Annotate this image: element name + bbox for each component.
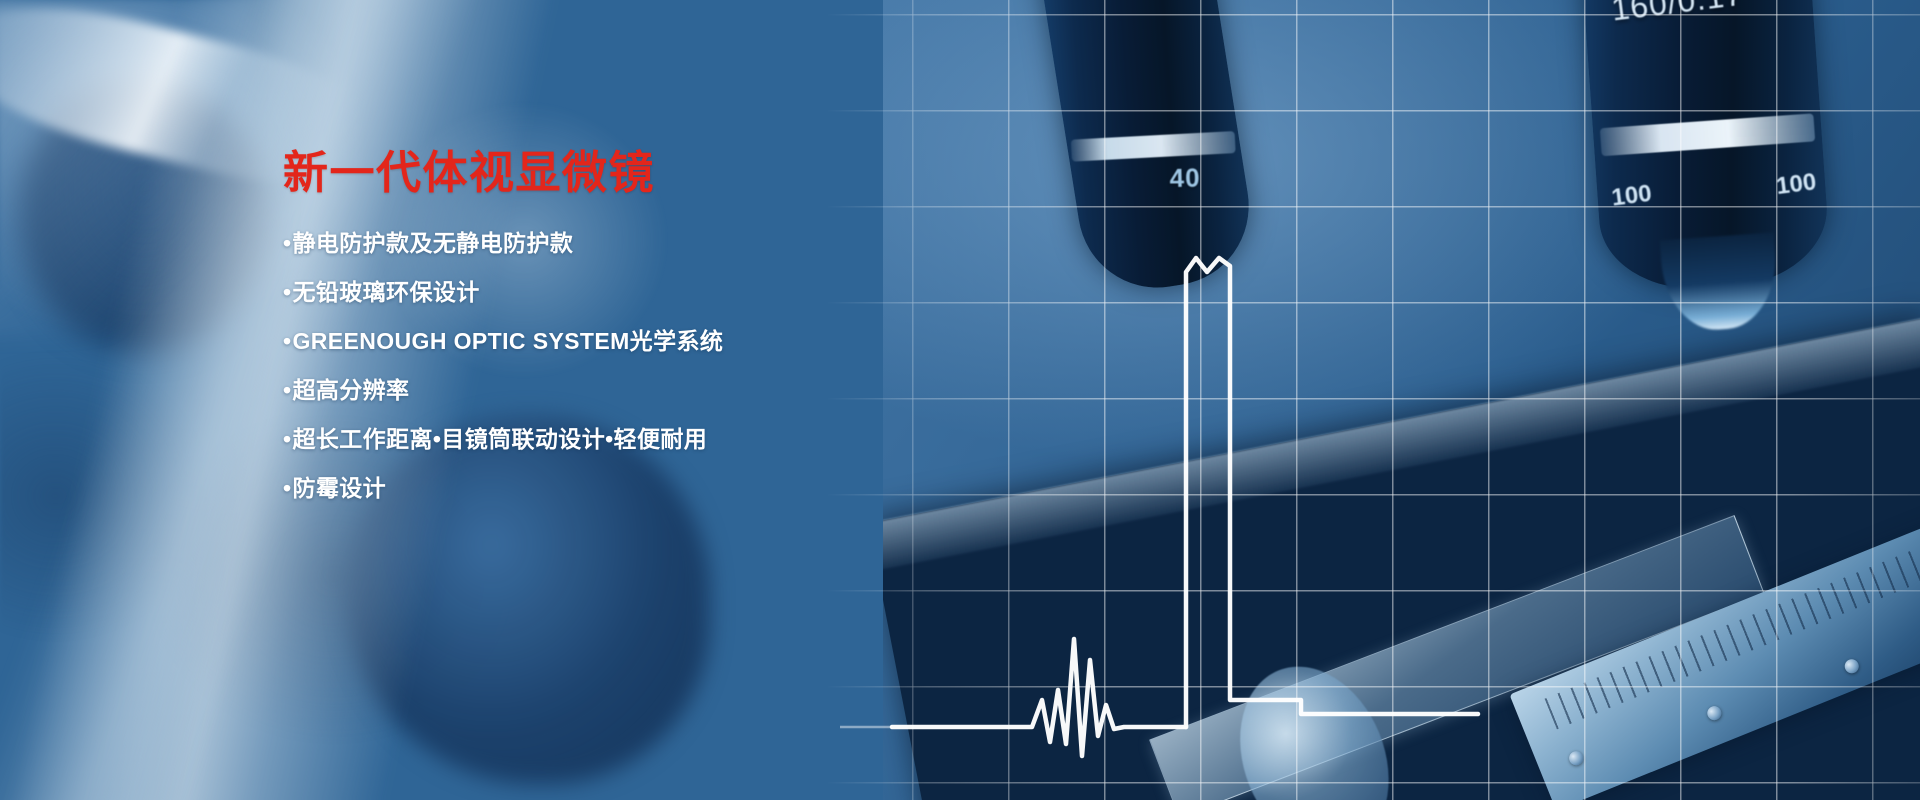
page-title: 新一代体视显微镜 bbox=[283, 148, 1003, 198]
bullet-marker-icon: • bbox=[283, 230, 291, 256]
ecg-pulse-trace bbox=[892, 639, 1186, 756]
square-pulse-trace bbox=[1186, 258, 1478, 727]
feature-list: •静电防护款及无静电防护款 •无铅玻璃环保设计 •GREENOUGH OPTIC… bbox=[283, 232, 1003, 500]
banner-copy: 新一代体视显微镜 •静电防护款及无静电防护款 •无铅玻璃环保设计 •GREENO… bbox=[283, 148, 1003, 500]
list-item: •超高分辨率 bbox=[283, 379, 1003, 402]
list-item-label: GREENOUGH OPTIC SYSTEM光学系统 bbox=[292, 328, 723, 354]
list-item: •静电防护款及无静电防护款 bbox=[283, 232, 1003, 255]
list-item-label: 超长工作距离•目镜筒联动设计•轻便耐用 bbox=[292, 426, 707, 452]
list-item: •超长工作距离•目镜筒联动设计•轻便耐用 bbox=[283, 428, 1003, 451]
bullet-marker-icon: • bbox=[283, 426, 291, 452]
list-item-label: 超高分辨率 bbox=[292, 377, 409, 403]
product-banner: 40 100/1.25 160/0.17 100 100 新一代体视显微镜 •静 bbox=[0, 0, 1920, 800]
bullet-marker-icon: • bbox=[283, 475, 291, 501]
list-item: •GREENOUGH OPTIC SYSTEM光学系统 bbox=[283, 330, 1003, 353]
list-item-label: 静电防护款及无静电防护款 bbox=[292, 230, 573, 256]
list-item: •无铅玻璃环保设计 bbox=[283, 281, 1003, 304]
bullet-marker-icon: • bbox=[283, 328, 291, 354]
bullet-marker-icon: • bbox=[283, 279, 291, 305]
list-item-label: 防霉设计 bbox=[292, 475, 386, 501]
bullet-marker-icon: • bbox=[283, 377, 291, 403]
list-item: •防霉设计 bbox=[283, 477, 1003, 500]
list-item-label: 无铅玻璃环保设计 bbox=[292, 279, 479, 305]
